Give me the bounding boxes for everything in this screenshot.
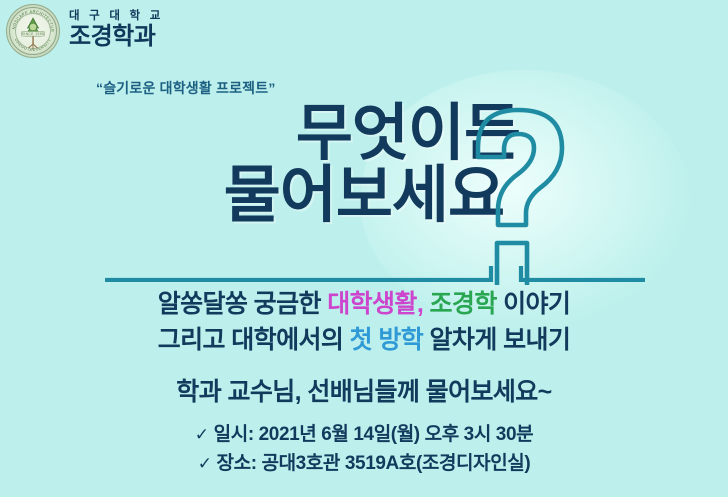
section-divider (105, 266, 645, 282)
detail-location-value: 공대3호관 3519A호(조경디자인실) (257, 453, 531, 474)
check-icon: ✓ (198, 454, 212, 473)
headline-line-2: 물어보세요 (0, 166, 520, 226)
poster-details: ✓일시: 2021년 6월 14일(월) 오후 3시 30분 ✓장소: 공대3호… (0, 421, 728, 478)
detail-location-label: 장소: (217, 453, 257, 474)
body-line-2-part-2: 알차게 보내기 (423, 326, 570, 354)
poster-tagline: “슬기로운 대학생활 프로젝트” (96, 78, 276, 98)
university-logo-icon: LANDSCAPE ARCHITECTURE DAEGU UNIVERSITY … (6, 4, 60, 58)
body-line-1-highlight-pink: 대학생활, (327, 290, 423, 318)
question-mark-icon (470, 100, 620, 285)
detail-datetime-label: 일시: (214, 424, 254, 445)
detail-datetime-value: 2021년 6월 14일(월) 오후 3시 30분 (254, 424, 533, 445)
department-title-block: 대 구 대 학 교 조경학과 (69, 11, 163, 52)
detail-datetime: ✓일시: 2021년 6월 14일(월) 오후 3시 30분 (0, 421, 728, 450)
headline-line-1: 무엇이든 (0, 104, 520, 164)
poster-header: LANDSCAPE ARCHITECTURE DAEGU UNIVERSITY … (6, 4, 163, 58)
university-name: 대 구 대 학 교 (69, 11, 163, 23)
department-name: 조경학과 (69, 25, 163, 49)
body-line-2-part-1: 그리고 대학에서의 (158, 326, 350, 354)
body-line-2-highlight-blue: 첫 방학 (350, 326, 424, 354)
body-line-1-highlight-green: 조경학 (430, 290, 497, 318)
poster-body-copy: 알쏭달쏭 궁금한 대학생활, 조경학 이야기 그리고 대학에서의 첫 방학 알차… (0, 286, 728, 410)
body-line-1-part-2: 이야기 (497, 290, 571, 318)
body-line-1-part-1: 알쏭달쏭 궁금한 (158, 290, 328, 318)
body-line-1: 알쏭달쏭 궁금한 대학생활, 조경학 이야기 (0, 286, 728, 322)
svg-text:SINCE 1995: SINCE 1995 (22, 32, 45, 36)
check-icon: ✓ (195, 425, 209, 444)
body-line-3: 학과 교수님, 선배님들께 물어보세요~ (0, 374, 728, 410)
poster-canvas: LANDSCAPE ARCHITECTURE DAEGU UNIVERSITY … (0, 0, 728, 497)
body-line-2: 그리고 대학에서의 첫 방학 알차게 보내기 (0, 322, 728, 358)
poster-headline: 무엇이든 물어보세요 (0, 104, 520, 226)
detail-location: ✓장소: 공대3호관 3519A호(조경디자인실) (0, 450, 728, 479)
